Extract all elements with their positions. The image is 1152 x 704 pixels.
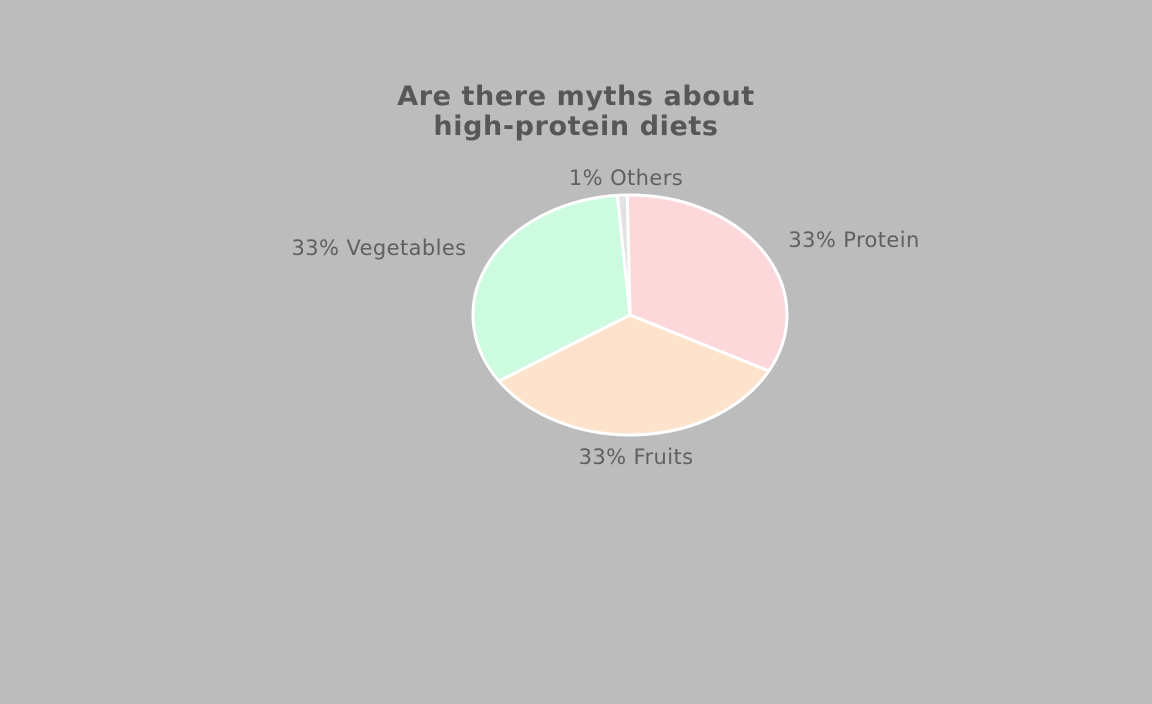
pie-label-fruits: 33% Fruits bbox=[579, 445, 694, 469]
pie-label-vegetables: 33% Vegetables bbox=[292, 236, 467, 260]
pie-label-protein: 33% Protein bbox=[788, 228, 919, 252]
pie-slice-group bbox=[473, 195, 787, 435]
pie-chart: 33% Protein33% Fruits33% Vegetables1% Ot… bbox=[0, 0, 1152, 704]
pie-label-others: 1% Others bbox=[569, 166, 683, 190]
chart-canvas: Are there myths about high-protein diets… bbox=[0, 0, 1152, 704]
